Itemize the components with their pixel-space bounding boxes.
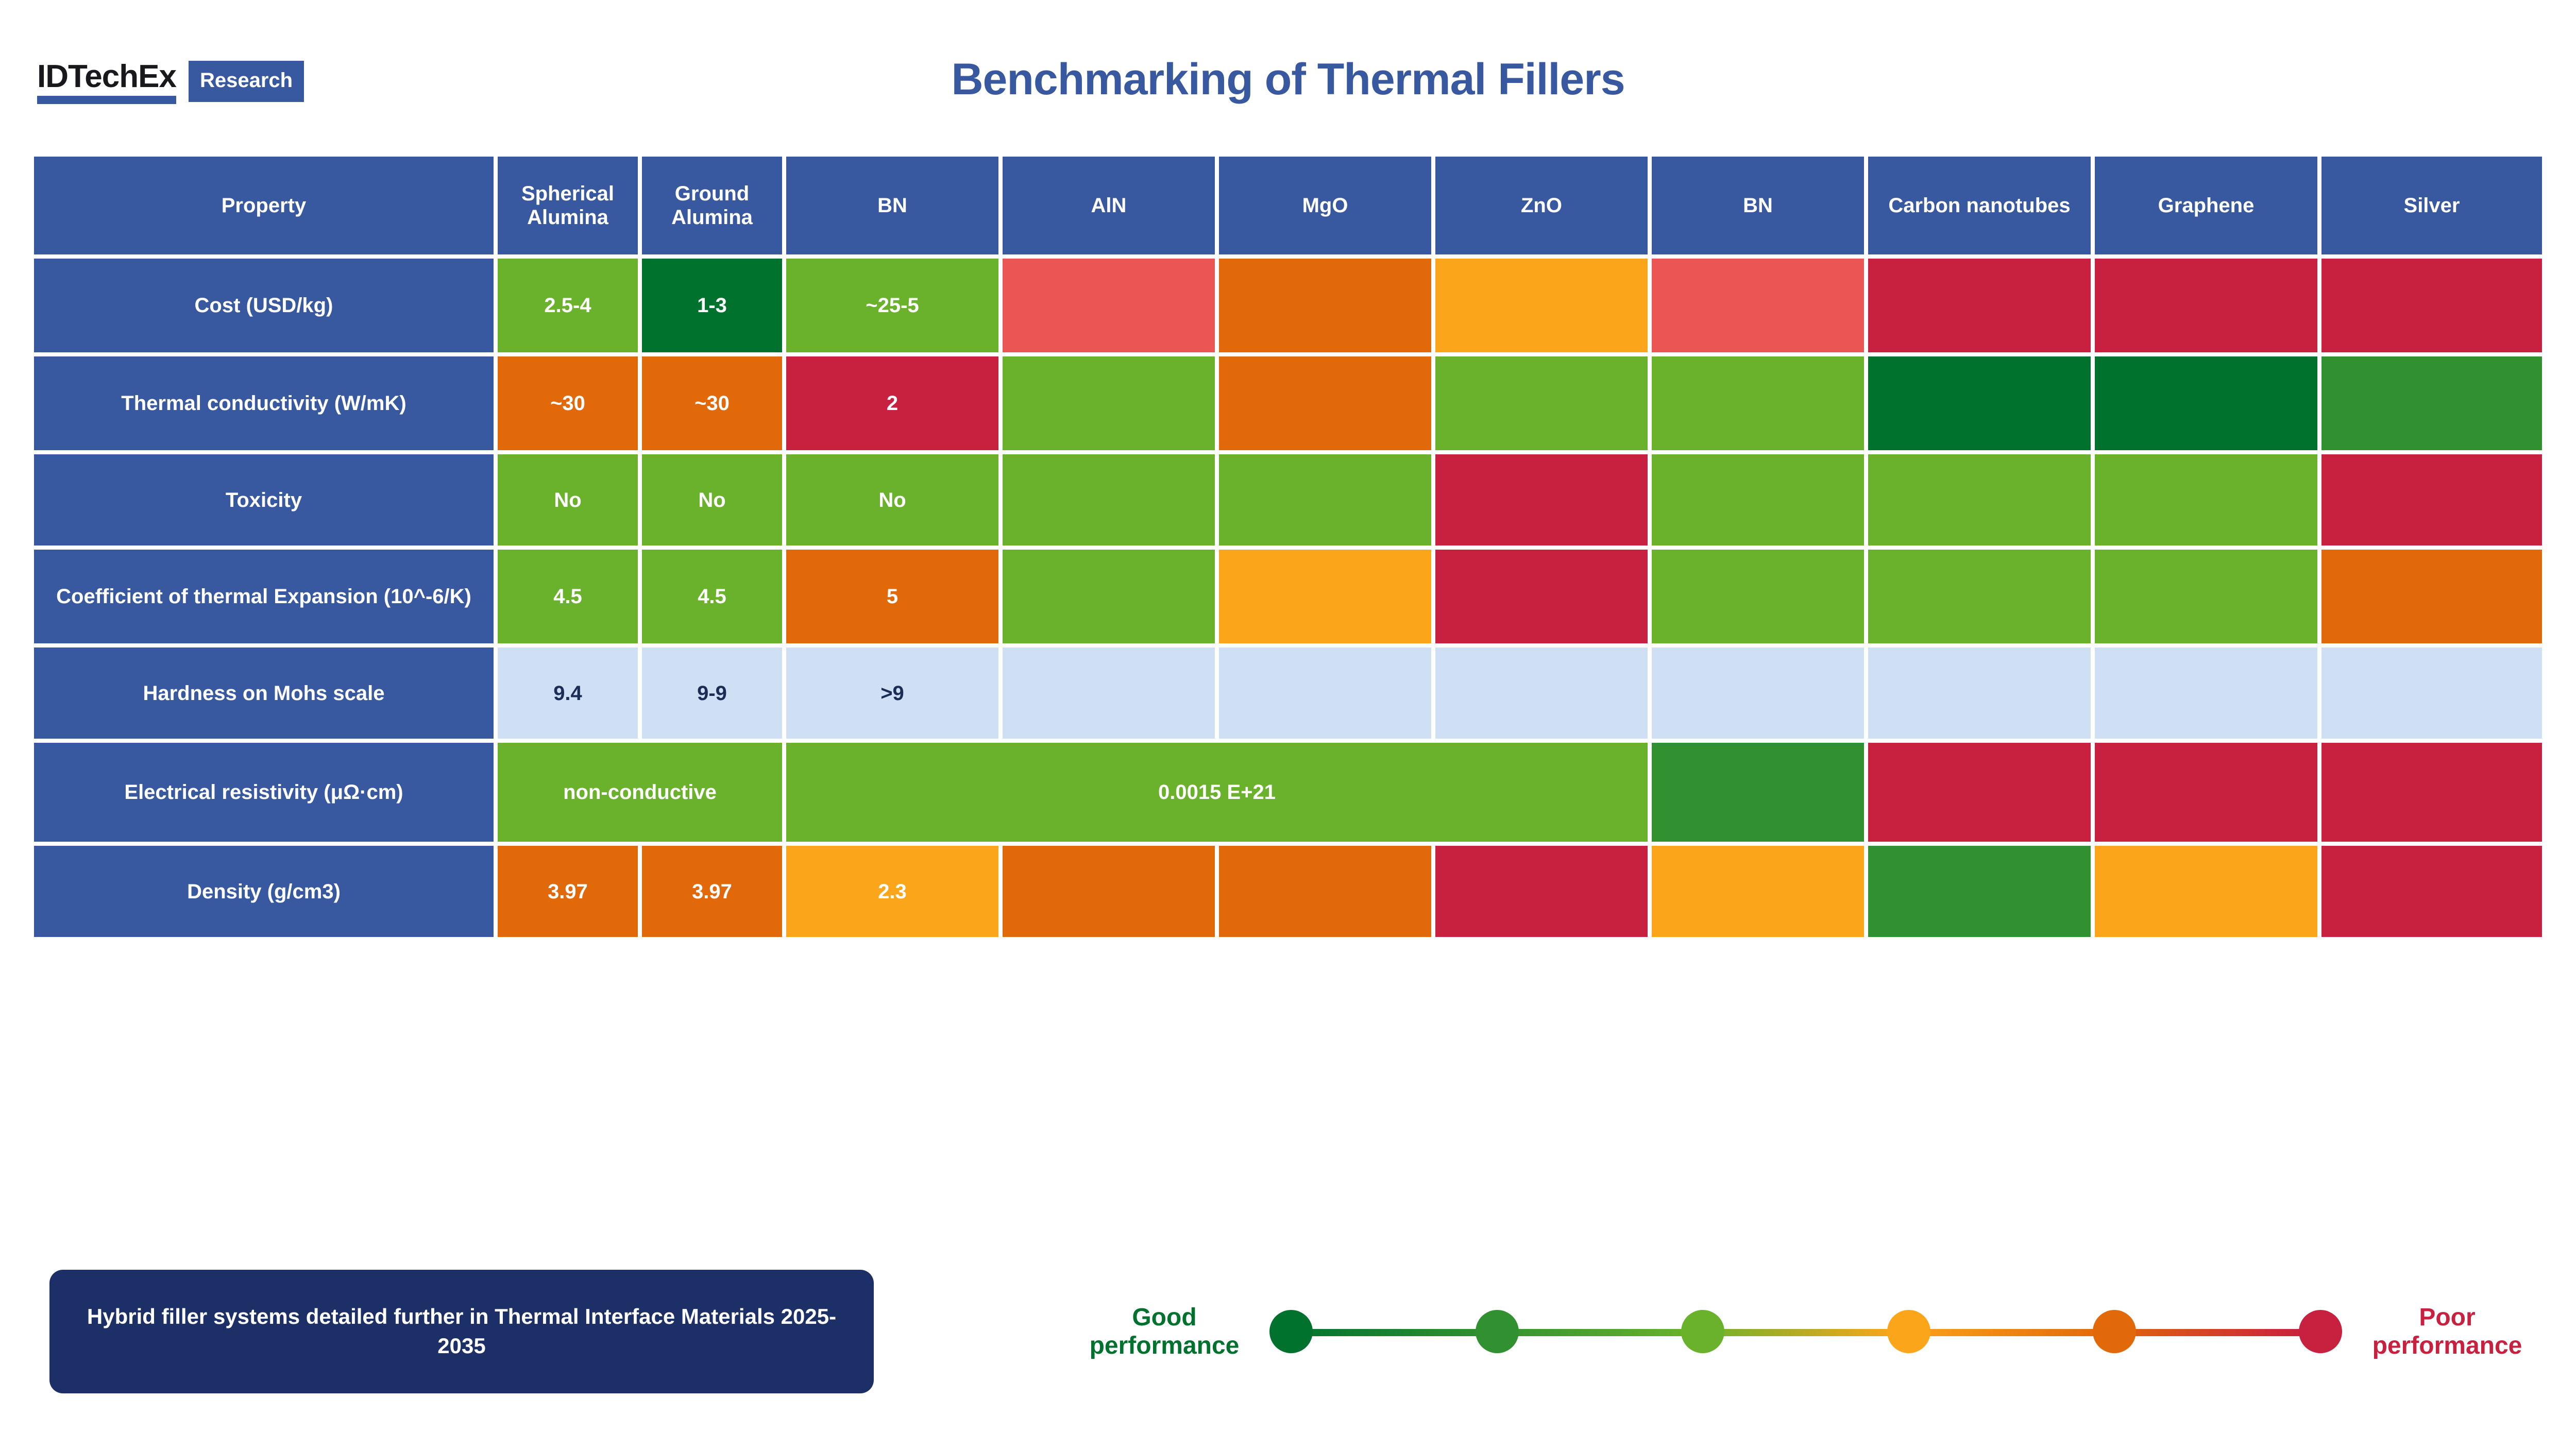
column-header-silver: Silver [2319,155,2544,257]
legend-dot-5 [2093,1310,2136,1353]
cell [1217,452,1433,548]
legend-dot-4 [1887,1310,1930,1353]
cell [1866,452,2093,548]
cell: 2 [784,354,1001,452]
cell [1866,741,2093,844]
cell: ~25-5 [784,257,1001,354]
benchmark-table: Property Spherical Alumina Ground Alumin… [32,155,2544,939]
column-header-bn2: BN [1650,155,1866,257]
cell [2319,741,2544,844]
legend-arrow-icon [2313,1317,2337,1350]
cell: >9 [784,645,1001,741]
cell [1650,257,1866,354]
performance-legend: Good performance Poor performance [1072,1267,2540,1396]
legend-dot-1 [1269,1310,1313,1353]
legend-dot-2 [1476,1310,1519,1353]
cell [2093,548,2319,645]
cell: non-conductive [496,741,784,844]
cell: 1-3 [640,257,784,354]
cell [2093,257,2319,354]
cell: 4.5 [496,548,640,645]
cell: No [496,452,640,548]
table-row: Electrical resistivity (μΩ·cm) non-condu… [32,741,2544,844]
footer-note: Hybrid filler systems detailed further i… [49,1270,874,1393]
legend-dot-3 [1681,1310,1724,1353]
cell [1217,354,1433,452]
row-label-cte: Coefficient of thermal Expansion (10^-6/… [32,548,496,645]
row-label-hardness: Hardness on Mohs scale [32,645,496,741]
cell [1001,354,1217,452]
row-label-electrical-resistivity: Electrical resistivity (μΩ·cm) [32,741,496,844]
cell: 2.5-4 [496,257,640,354]
cell: 3.97 [640,844,784,939]
cell [2319,548,2544,645]
column-header-zno: ZnO [1433,155,1650,257]
cell [1433,645,1650,741]
table-row: Hardness on Mohs scale 9.4 9-9 >9 [32,645,2544,741]
cell [1650,354,1866,452]
cell [1650,452,1866,548]
cell [1650,548,1866,645]
cell [1217,645,1433,741]
page-title: Benchmarking of Thermal Fillers [0,54,2576,105]
cell: 0.0015 E+21 [784,741,1650,844]
table-row: Coefficient of thermal Expansion (10^-6/… [32,548,2544,645]
table-row: Thermal conductivity (W/mK) ~30 ~30 2 [32,354,2544,452]
cell [1650,741,1866,844]
cell: No [640,452,784,548]
cell: 9.4 [496,645,640,741]
cell: 4.5 [640,548,784,645]
cell [2093,741,2319,844]
column-header-graphene: Graphene [2093,155,2319,257]
cell [1433,548,1650,645]
cell [1866,354,2093,452]
column-header-ground-alumina: Ground Alumina [640,155,784,257]
cell [2319,645,2544,741]
cell [1650,645,1866,741]
legend-scale [1269,1303,2342,1360]
cell [1001,645,1217,741]
table-body: Cost (USD/kg) 2.5-4 1-3 ~25-5 Thermal co… [32,257,2544,939]
cell [1866,548,2093,645]
cell: No [784,452,1001,548]
column-header-spherical-alumina: Spherical Alumina [496,155,640,257]
cell [1866,645,2093,741]
cell: ~30 [640,354,784,452]
legend-good-label: Good performance [1072,1303,1257,1360]
cell [2319,354,2544,452]
row-label-thermal-conductivity: Thermal conductivity (W/mK) [32,354,496,452]
cell [1217,844,1433,939]
page-header: IDTechEx Research Benchmarking of Therma… [0,0,2576,155]
cell [1217,548,1433,645]
cell: 3.97 [496,844,640,939]
legend-dots [1269,1310,2342,1353]
table-row: Cost (USD/kg) 2.5-4 1-3 ~25-5 [32,257,2544,354]
row-label-density: Density (g/cm3) [32,844,496,939]
cell: ~30 [496,354,640,452]
table-row: Toxicity No No No [32,452,2544,548]
column-header-property: Property [32,155,496,257]
cell [2093,645,2319,741]
cell [2319,257,2544,354]
cell: 2.3 [784,844,1001,939]
cell: 5 [784,548,1001,645]
cell: 9-9 [640,645,784,741]
column-header-carbon-nanotubes: Carbon nanotubes [1866,155,2093,257]
cell [1001,452,1217,548]
row-label-toxicity: Toxicity [32,452,496,548]
cell [1001,548,1217,645]
table-row: Density (g/cm3) 3.97 3.97 2.3 [32,844,2544,939]
cell [1217,257,1433,354]
cell [2093,844,2319,939]
infographic-page: IDTechEx Research Benchmarking of Therma… [0,0,2576,1449]
legend-poor-label: Poor performance [2354,1303,2540,1360]
column-header-aln: AlN [1001,155,1217,257]
cell [2319,452,2544,548]
cell [1866,844,2093,939]
cell [1433,354,1650,452]
column-header-mgo: MgO [1217,155,1433,257]
cell [1433,844,1650,939]
column-header-bn: BN [784,155,1001,257]
cell [1001,257,1217,354]
cell [1433,257,1650,354]
table-header-row: Property Spherical Alumina Ground Alumin… [32,155,2544,257]
cell [1866,257,2093,354]
cell [2093,452,2319,548]
cell [1001,844,1217,939]
cell [2093,354,2319,452]
row-label-cost: Cost (USD/kg) [32,257,496,354]
cell [1433,452,1650,548]
cell [2319,844,2544,939]
cell [1650,844,1866,939]
